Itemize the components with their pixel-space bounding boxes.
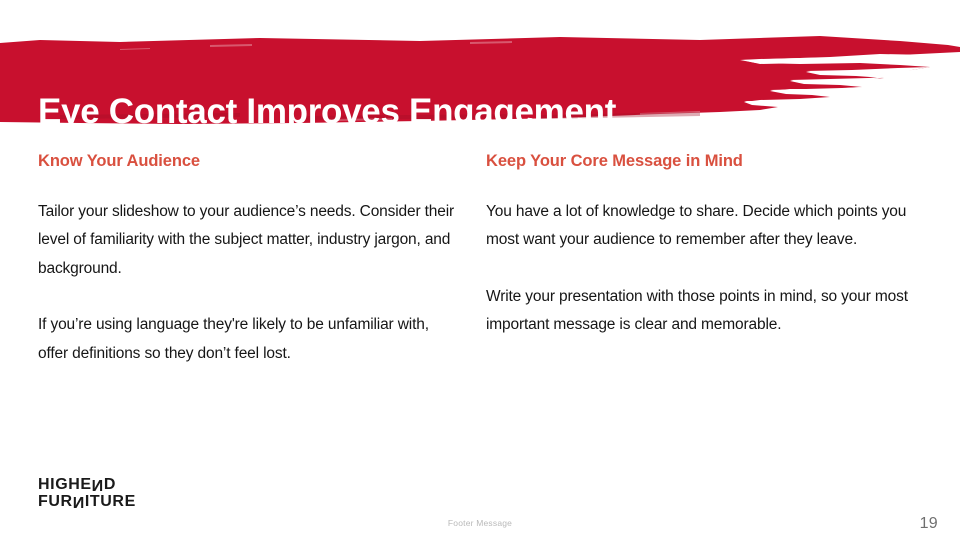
brand-logo-line-2-part-1: FUR bbox=[38, 493, 73, 510]
column-right-paragraph-1: You have a lot of knowledge to share. De… bbox=[486, 198, 916, 255]
brand-logo-line-2-inverted-n: N bbox=[73, 493, 85, 510]
brand-logo-line-2: FURNITURE bbox=[38, 493, 136, 510]
title-banner: Eye Contact Improves Engagement bbox=[0, 33, 960, 129]
column-right-paragraph-2: Write your presentation with those point… bbox=[486, 283, 916, 340]
column-left: Know Your Audience Tailor your slideshow… bbox=[38, 152, 458, 368]
column-right-heading: Keep Your Core Message in Mind bbox=[486, 152, 916, 172]
page-number: 19 bbox=[920, 515, 938, 533]
brand-logo-line-1: HIGHEND bbox=[38, 476, 136, 493]
column-left-paragraph-2: If you’re using language they're likely … bbox=[38, 311, 458, 368]
brand-logo: HIGHEND FURNITURE bbox=[38, 476, 136, 510]
brand-logo-line-1-inverted-n: N bbox=[92, 476, 104, 493]
brand-logo-line-2-part-2: ITURE bbox=[85, 493, 136, 510]
column-left-paragraph-1: Tailor your slideshow to your audience’s… bbox=[38, 198, 458, 284]
column-left-heading: Know Your Audience bbox=[38, 152, 458, 172]
footer-message: Footer Message bbox=[0, 518, 960, 528]
brand-logo-line-1-part-2: D bbox=[104, 476, 116, 493]
column-right: Keep Your Core Message in Mind You have … bbox=[486, 152, 916, 340]
slide: Eye Contact Improves Engagement Know You… bbox=[0, 0, 960, 540]
slide-title: Eye Contact Improves Engagement bbox=[38, 93, 616, 132]
brand-logo-line-1-part-1: HIGHE bbox=[38, 476, 92, 493]
